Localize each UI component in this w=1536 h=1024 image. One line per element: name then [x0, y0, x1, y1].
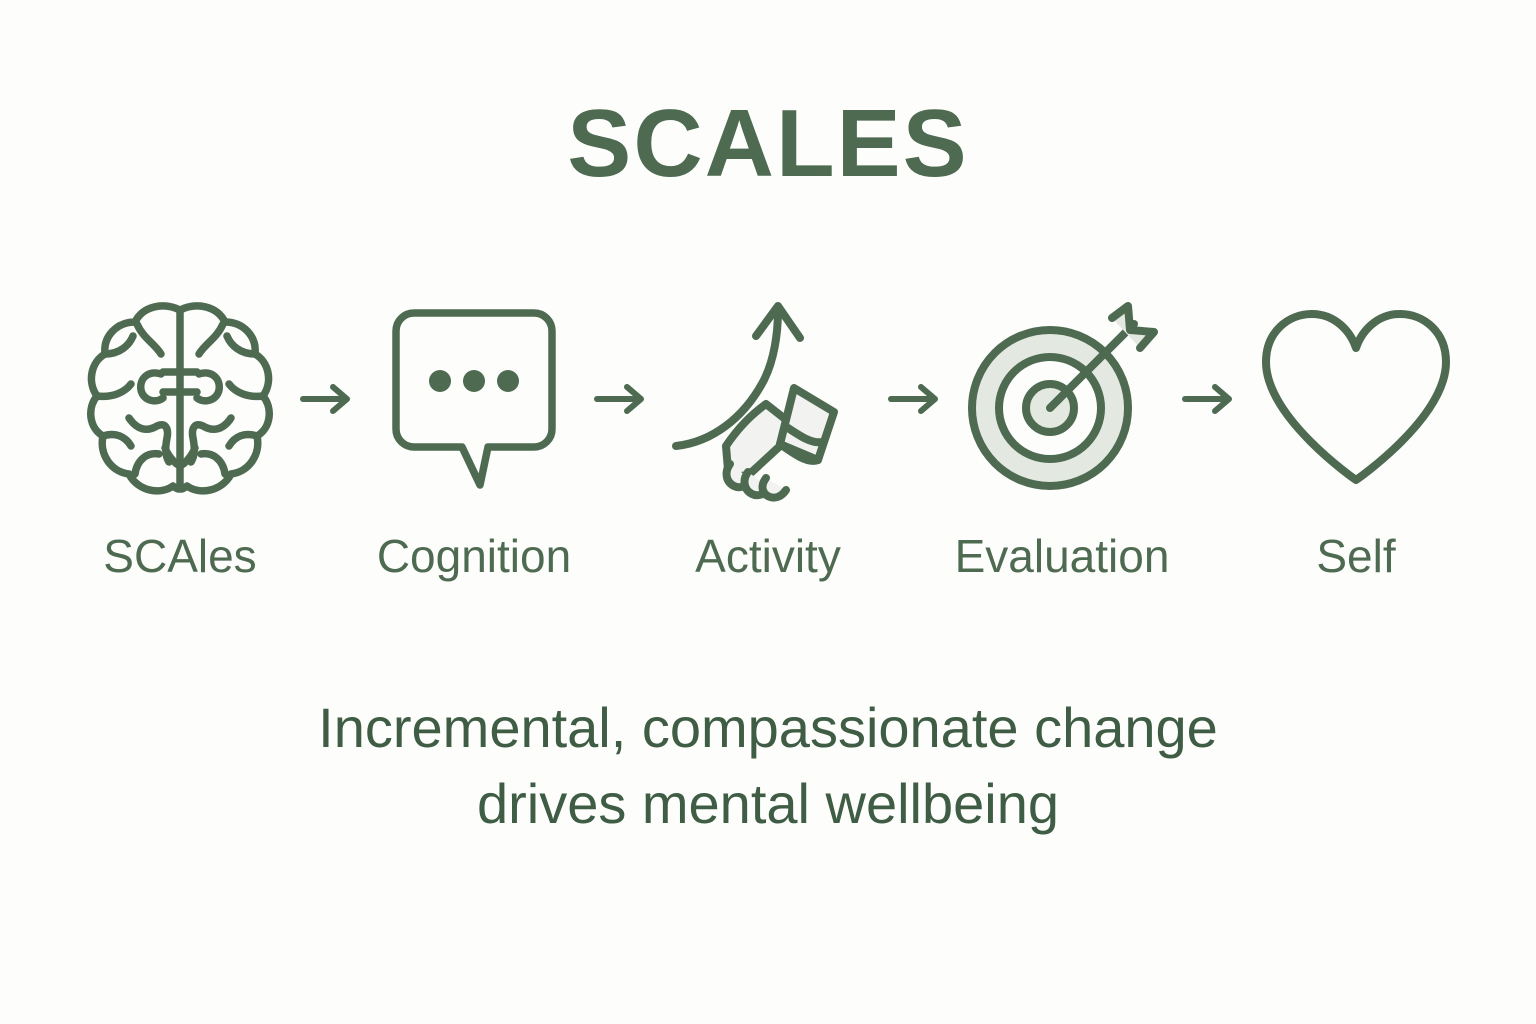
- arrow-right-icon: [872, 290, 958, 508]
- flow-step-cognition: Cognition: [370, 290, 578, 580]
- flow-step-label-activity: Activity: [695, 532, 841, 580]
- target-arrow-icon: [958, 290, 1166, 508]
- flow-step-label-cognition: Cognition: [377, 532, 571, 580]
- flow-step-label-evaluation: Evaluation: [955, 532, 1170, 580]
- page-title: SCALES: [567, 96, 968, 192]
- process-flow: SCAles Cognition: [68, 290, 1468, 580]
- flow-step-evaluation: Evaluation: [958, 290, 1166, 580]
- tagline-line-2: drives mental wellbeing: [318, 766, 1218, 842]
- speech-bubble-icon: [370, 290, 578, 508]
- brain-icon: [76, 290, 284, 508]
- arrow-right-icon: [1166, 290, 1252, 508]
- arrow-right-icon: [284, 290, 370, 508]
- flow-step-self: Self: [1252, 290, 1460, 580]
- flow-step-activity: Activity: [664, 290, 872, 580]
- handshake-arrow-icon: [664, 290, 872, 508]
- flow-step-scales: SCAles: [76, 290, 284, 580]
- tagline: Incremental, compassionate change drives…: [318, 690, 1218, 841]
- infographic-root: SCALES: [0, 0, 1536, 1024]
- heart-icon: [1252, 290, 1460, 508]
- arrow-right-icon: [578, 290, 664, 508]
- tagline-line-1: Incremental, compassionate change: [318, 690, 1218, 766]
- flow-step-label-self: Self: [1316, 532, 1395, 580]
- flow-step-label-scales: SCAles: [103, 532, 256, 580]
